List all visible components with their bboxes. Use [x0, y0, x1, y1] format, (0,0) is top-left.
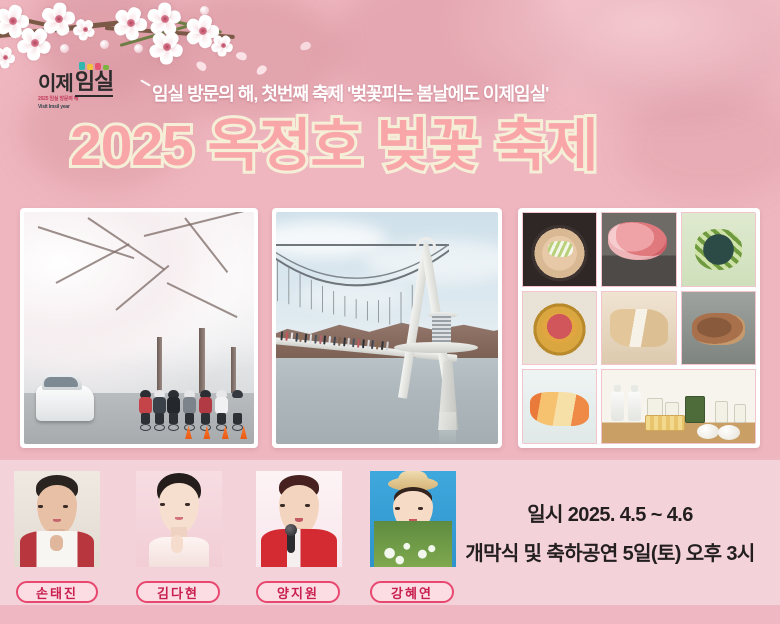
food-cell-dumpling — [681, 212, 756, 287]
imsil-brand-logo: 이제 임실 2025 임실 방문의 해 Visit Imsil year — [38, 62, 140, 114]
event-date-info: 일시 2025. 4.5 ~ 4.6 — [450, 498, 770, 527]
performer-badge-2: 김다현 — [136, 581, 220, 603]
performer-photo-3 — [256, 471, 342, 567]
logo-text-ije: 이제 — [38, 74, 73, 94]
festival-poster: 이제 임실 2025 임실 방문의 해 Visit Imsil year 임실 … — [0, 0, 780, 624]
page-title: 2025 옥정호 벚꽃 축제 — [70, 117, 710, 177]
observation-deck — [394, 342, 478, 353]
food-cell-cheese-bread — [601, 291, 676, 366]
festival-tagline: 임실 방문의 해, 첫번째 축제 '벚꽃피는 봄날에도 이제임실' — [152, 80, 692, 106]
performer-badge-4: 강혜연 — [370, 581, 454, 603]
performer-photo-2 — [136, 471, 222, 567]
performer-badge-3: 양지원 — [256, 581, 340, 603]
food-cell-tteokbokki — [522, 369, 597, 444]
performer-photo-4 — [370, 471, 456, 567]
flower-bouquet — [374, 521, 452, 567]
cherry-blossom-road-photo — [20, 208, 258, 448]
food-cell-beef — [601, 212, 676, 287]
photo-gallery — [0, 208, 780, 448]
event-opening-ceremony-info: 개막식 및 축하공연 5일(토) 오후 3시 — [450, 537, 770, 566]
food-cell-bibimbap — [522, 291, 597, 366]
performer-badge-1: 손태진 — [16, 581, 98, 603]
food-cell-stew — [681, 291, 756, 366]
bottom-accent-strip — [0, 605, 780, 624]
food-cell-cheese-products — [601, 369, 756, 444]
logo-subtitle-en: Visit Imsil year — [38, 104, 140, 112]
white-car — [36, 385, 94, 421]
local-food-collage-photo — [518, 208, 760, 448]
okjeongho-suspension-bridge-photo — [272, 208, 502, 448]
logo-text-imsil: 임실 — [75, 69, 113, 97]
logo-subtitle-kr: 2025 임실 방문의 해 — [38, 96, 140, 104]
food-cell-soup — [522, 212, 597, 287]
performer-photo-1 — [14, 471, 100, 567]
